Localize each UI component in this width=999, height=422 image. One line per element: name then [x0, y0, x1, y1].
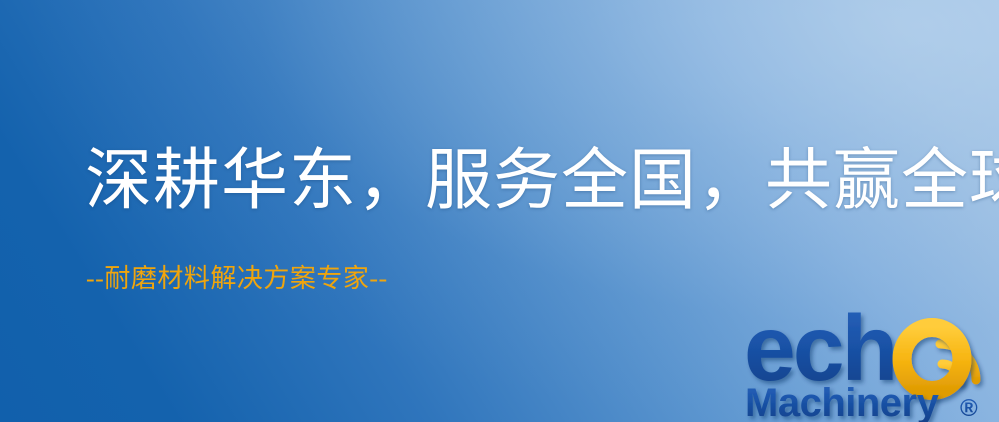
page-subtitle: --耐磨材料解决方案专家--: [86, 266, 388, 292]
brand-logo[interactable]: ech Machinery ®: [744, 292, 996, 420]
page-title: 深耕华东，服务全国，共赢全球: [85, 148, 999, 215]
hero-banner: 深耕华东，服务全国，共赢全球 --耐磨材料解决方案专家--: [0, 0, 999, 422]
registered-trademark-icon: ®: [960, 395, 978, 422]
logo-text-machinery: Machinery: [745, 381, 940, 422]
